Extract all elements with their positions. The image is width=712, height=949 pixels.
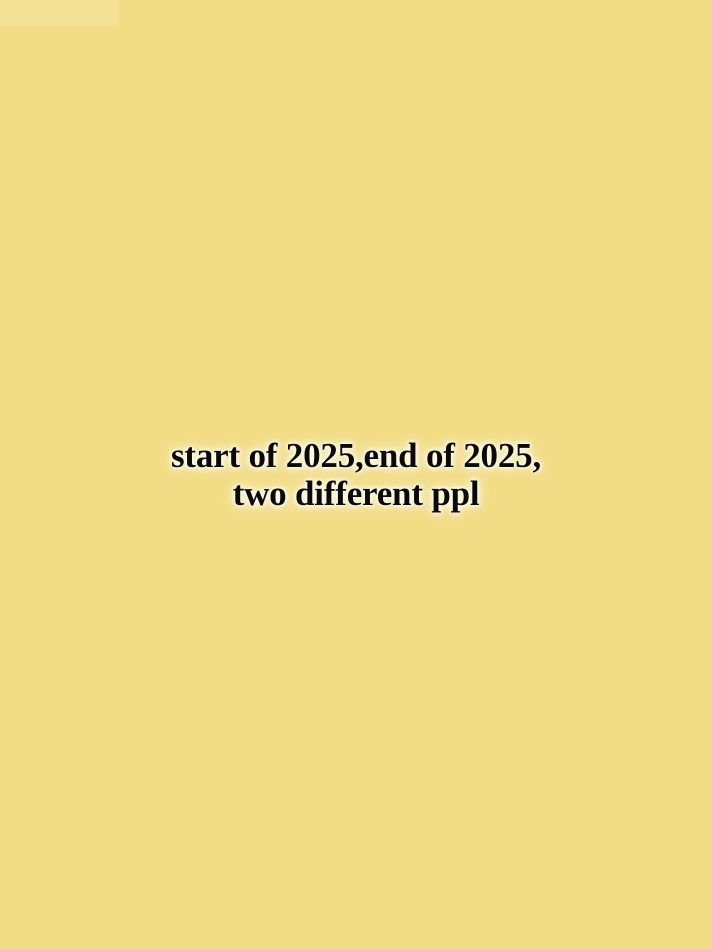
- caption-text-block: start of 2025,end of 2025, two different…: [0, 437, 712, 513]
- image-canvas: start of 2025,end of 2025, two different…: [0, 0, 712, 949]
- caption-line-1: start of 2025,end of 2025,: [0, 437, 712, 474]
- corner-sheen-overlay: [0, 0, 118, 26]
- caption-line-2: two different ppl: [0, 475, 712, 512]
